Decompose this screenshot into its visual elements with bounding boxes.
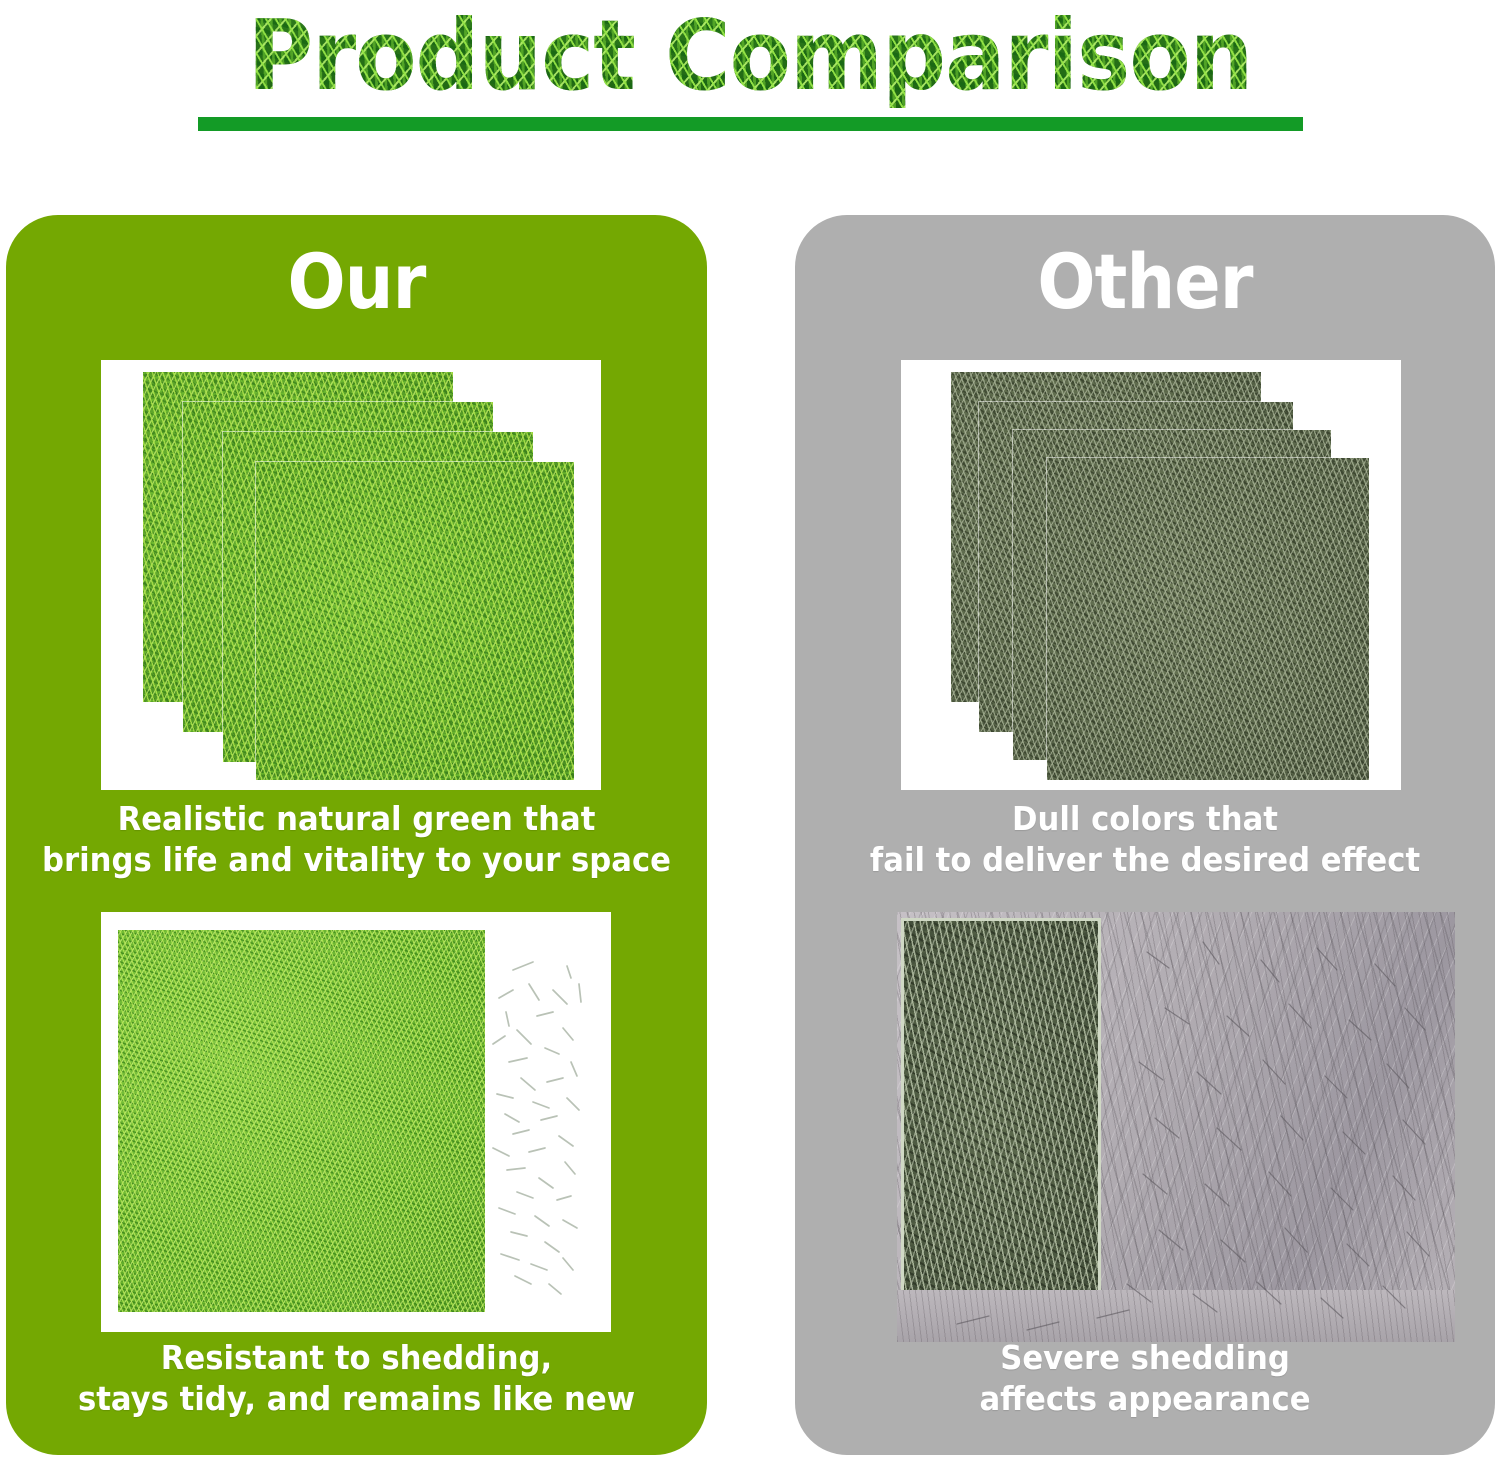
other-color-caption: Dull colors that fail to deliver the des… <box>820 798 1471 880</box>
our-color-caption: Realistic natural green that brings life… <box>31 798 683 880</box>
panel-our: Our Realistic natural green that brings … <box>6 215 707 1455</box>
page-title: Product Comparison <box>248 4 1253 108</box>
other-color-photo <box>901 360 1401 790</box>
our-color-photo <box>101 360 601 790</box>
shedding-turf-strip <box>901 918 1101 1314</box>
panel-our-heading: Our <box>41 215 672 321</box>
panel-other: Other Dull colors that fail to deliver t… <box>795 215 1495 1455</box>
other-shedding-photo <box>897 912 1455 1342</box>
product-comparison-infographic: Product Comparison Our Realistic natural… <box>0 0 1500 1475</box>
title-underline-rule <box>198 117 1303 131</box>
page-title-block: Product Comparison <box>0 4 1500 144</box>
turf-tile <box>256 462 574 780</box>
panel-other-heading: Other <box>830 215 1460 321</box>
floor-foreground-band <box>897 1290 1455 1342</box>
turf-tile <box>1047 458 1369 780</box>
other-shedding-caption: Severe shedding affects appearance <box>820 1337 1471 1419</box>
turf-mat <box>118 930 485 1312</box>
our-shedding-caption: Resistant to shedding, stays tidy, and r… <box>31 1337 683 1419</box>
our-shedding-photo <box>101 912 611 1332</box>
